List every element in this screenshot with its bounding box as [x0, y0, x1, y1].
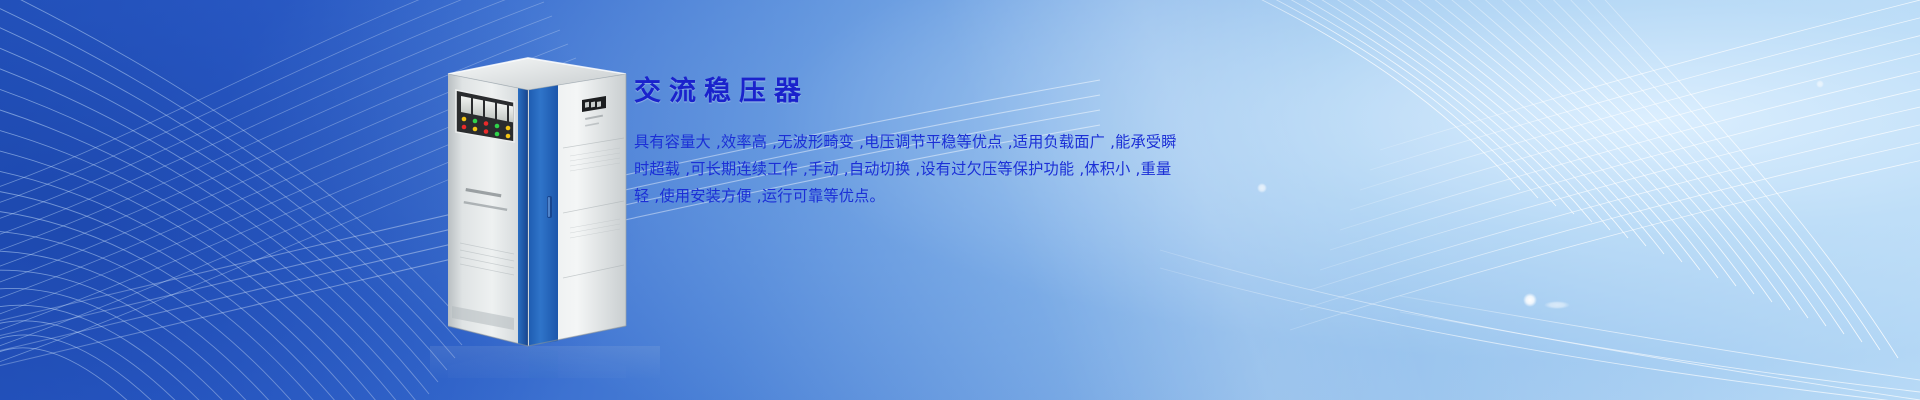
banner-description-line-1: 具有容量大 ,效率高 ,无波形畸变 ,电压调节平稳等优点 ,适用负载面广 ,能承… — [634, 129, 1174, 156]
banner-title: 交流稳压器 — [634, 78, 1174, 105]
product-banner: 交流稳压器 具有容量大 ,效率高 ,无波形畸变 ,电压调节平稳等优点 ,适用负载… — [0, 0, 1920, 400]
banner-description-line-2: 时超载 ,可长期连续工作 ,手动 ,自动切换 ,设有过欠压等保护功能 ,体积小 … — [634, 156, 1174, 183]
product-image-ac-voltage-stabilizer — [430, 38, 660, 378]
banner-copy-block: 交流稳压器 具有容量大 ,效率高 ,无波形畸变 ,电压调节平稳等优点 ,适用负载… — [634, 78, 1174, 210]
banner-description-line-3: 轻 ,使用安装方便 ,运行可靠等优点。 — [634, 183, 1174, 210]
